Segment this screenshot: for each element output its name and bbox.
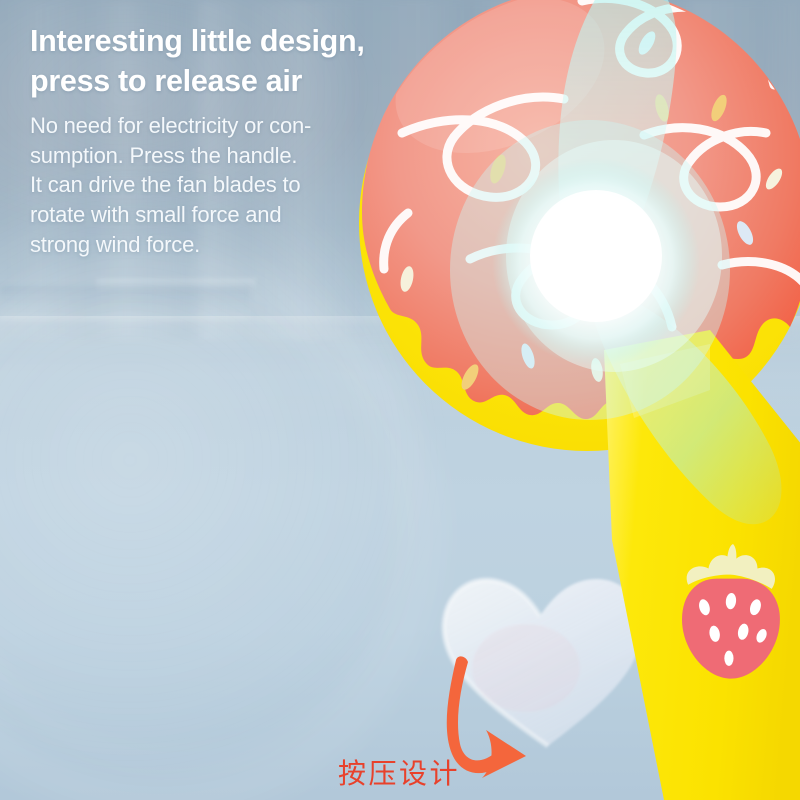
page-title: Interesting little design, press to rele…: [30, 22, 430, 101]
handle-body: [604, 330, 800, 800]
body-copy: No need for electricity or con- sumption…: [30, 111, 430, 259]
marketing-copy: Interesting little design, press to rele…: [30, 22, 430, 259]
product-marketing-image: Interesting little design, press to rele…: [0, 0, 800, 800]
product-handle: [560, 330, 800, 800]
callout-label: 按压设计: [338, 752, 460, 792]
